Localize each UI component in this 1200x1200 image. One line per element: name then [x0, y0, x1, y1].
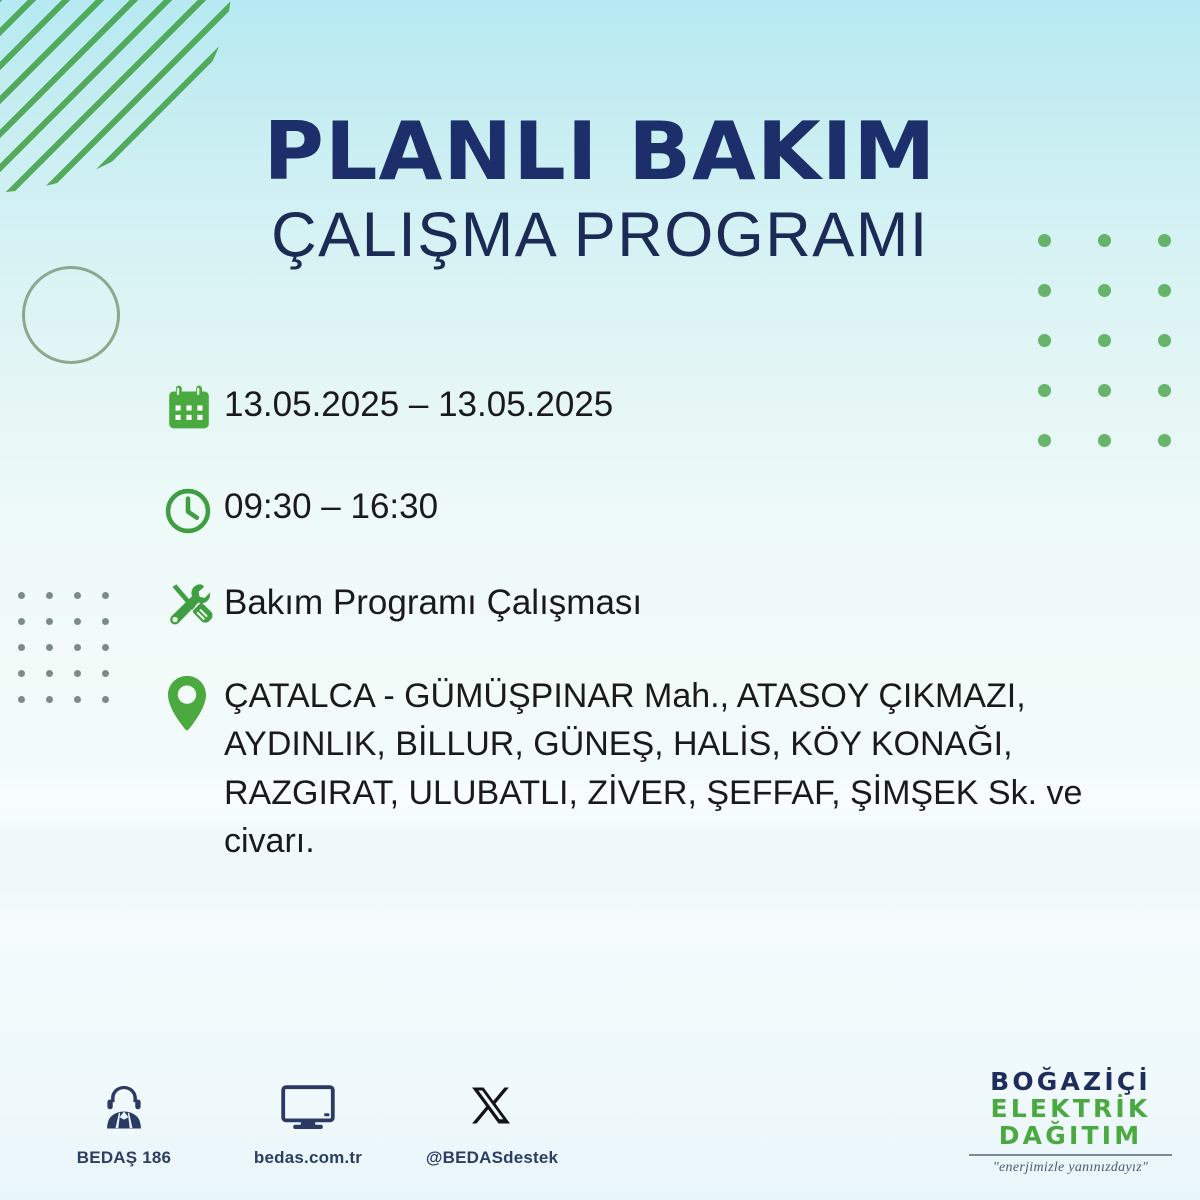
detail-row-location: ÇATALCA - GÜMÜŞPINAR Mah., ATASOY ÇIKMAZ… [162, 670, 1152, 865]
time-range-text: 09:30 – 16:30 [224, 480, 1152, 529]
contact-website[interactable]: bedas.com.tr [244, 1078, 372, 1168]
page-title: PLANLI BAKIM [0, 112, 1200, 192]
brand-line-elektrik: ELEKTRİK [963, 1095, 1178, 1122]
contact-x-label: @BEDASdestek [426, 1148, 558, 1168]
contact-phone-label: BEDAŞ 186 [77, 1148, 171, 1168]
contact-phone[interactable]: BEDAŞ 186 [60, 1078, 188, 1168]
location-text: ÇATALCA - GÜMÜŞPINAR Mah., ATASOY ÇIKMAZ… [224, 670, 1104, 865]
calendar-icon [162, 378, 224, 440]
circle-outline-decoration [22, 266, 120, 364]
brand-logo: BOĞAZİÇİ ELEKTRİK DAĞITIM "enerjimizle y… [963, 1068, 1178, 1176]
monitor-website-icon [280, 1078, 336, 1138]
poster-canvas: PLANLI BAKIM ÇALIŞMA PROGRAMI [0, 0, 1200, 1200]
contact-website-label: bedas.com.tr [254, 1148, 362, 1168]
page-subtitle: ÇALIŞMA PROGRAMI [0, 204, 1200, 267]
detail-row-work-type: Bakım Programı Çalışması [162, 576, 1152, 638]
brand-divider [969, 1154, 1172, 1156]
dot-grid-decoration-left [18, 592, 130, 722]
poster-heading-block: PLANLI BAKIM ÇALIŞMA PROGRAMI [0, 112, 1200, 267]
detail-row-date: 13.05.2025 – 13.05.2025 [162, 378, 1152, 440]
headset-support-icon [101, 1078, 147, 1138]
detail-row-time: 09:30 – 16:30 [162, 480, 1152, 542]
work-type-text: Bakım Programı Çalışması [224, 576, 1152, 625]
map-pin-icon [162, 670, 224, 736]
outage-details-list: 13.05.2025 – 13.05.2025 09:30 – 16:30 [162, 378, 1152, 901]
brand-tagline: "enerjimizle yanınızdayız" [963, 1160, 1178, 1176]
brand-line-bogazici: BOĞAZİÇİ [963, 1068, 1178, 1095]
footer-contacts: BEDAŞ 186 bedas.com.tr [60, 1078, 556, 1168]
x-twitter-icon [469, 1078, 515, 1138]
tools-icon [162, 576, 224, 638]
contact-x[interactable]: @BEDASdestek [428, 1078, 556, 1168]
clock-icon [162, 480, 224, 542]
date-range-text: 13.05.2025 – 13.05.2025 [224, 378, 1152, 427]
brand-line-dagitim: DAĞITIM [963, 1122, 1178, 1149]
